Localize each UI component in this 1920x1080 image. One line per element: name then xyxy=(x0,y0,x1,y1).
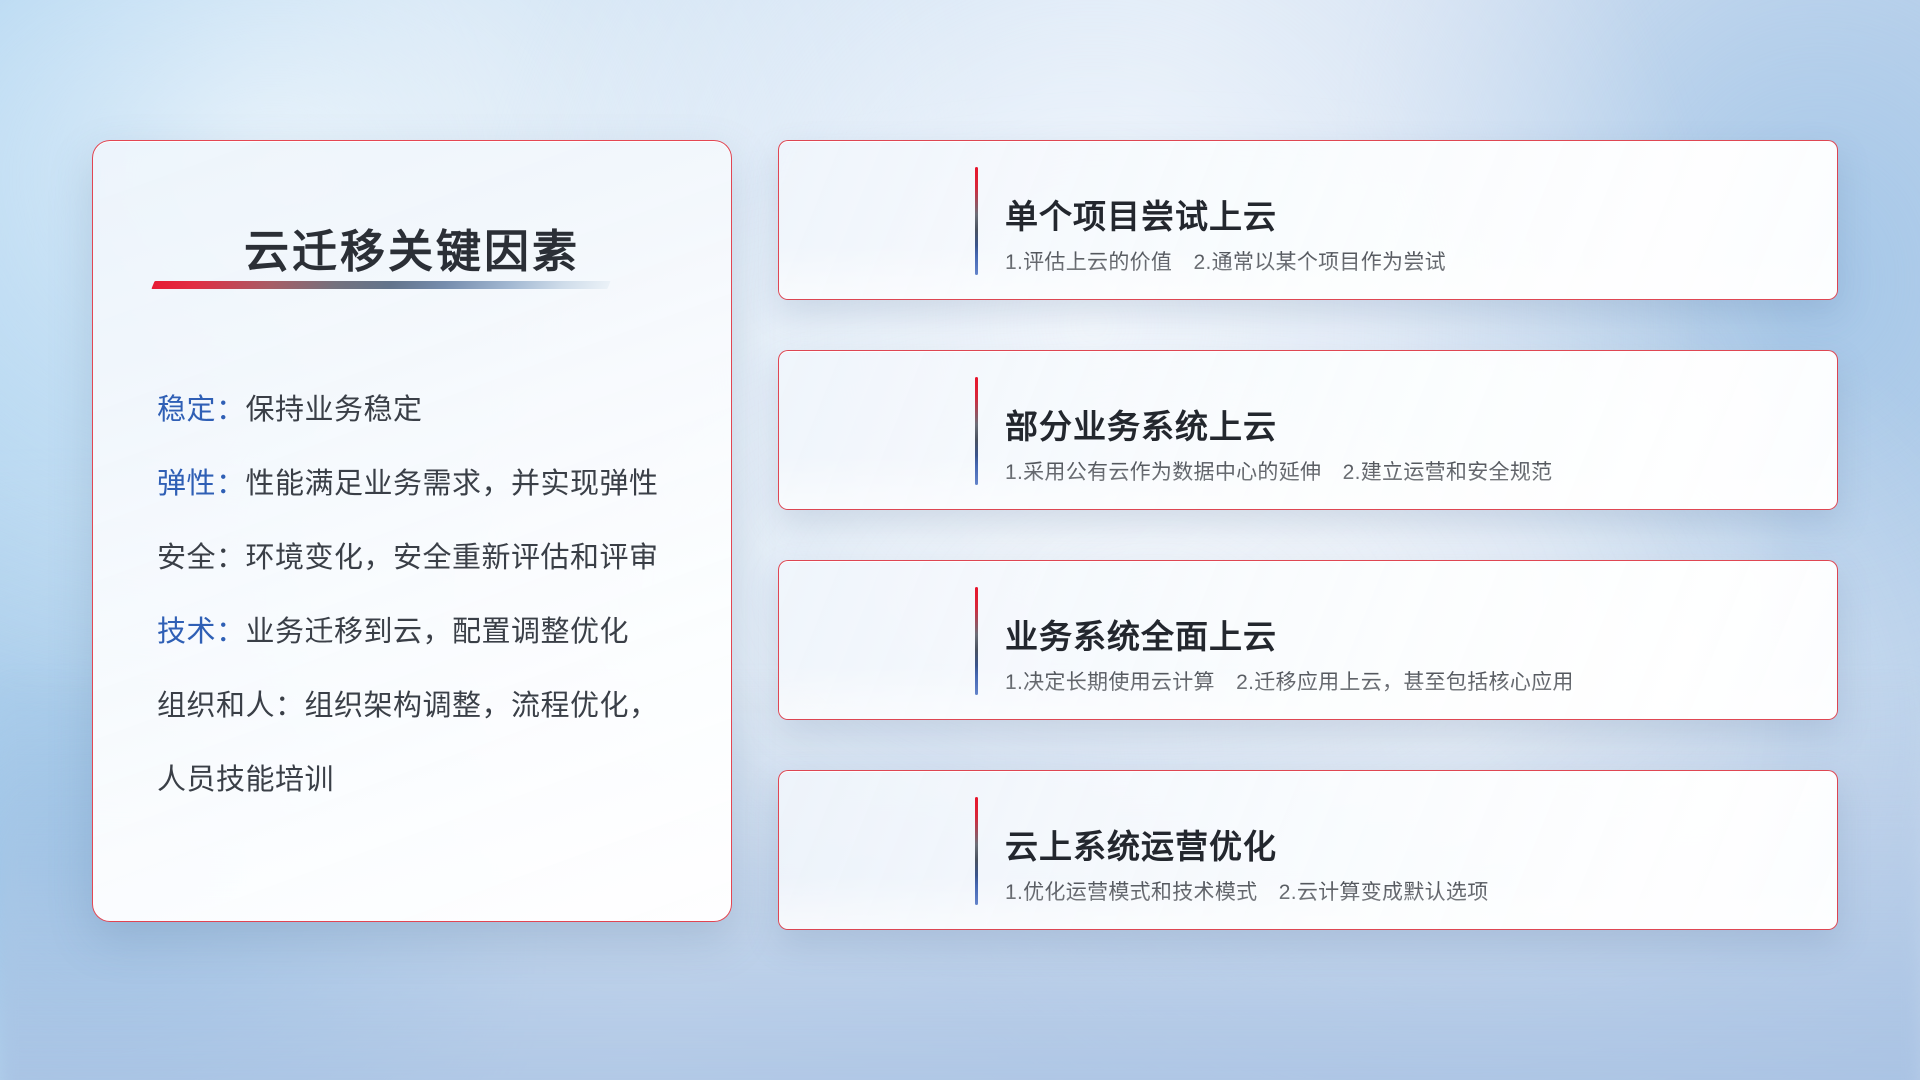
key-factor-label: 组织和人： xyxy=(157,690,305,722)
key-factor-row: 人员技能培训 xyxy=(157,743,687,817)
key-factors-list: 稳定：保持业务稳定弹性：性能满足业务需求，并实现弹性安全：环境变化，安全重新评估… xyxy=(157,373,687,817)
key-factor-row: 技术：业务迁移到云，配置调整优化 xyxy=(157,595,687,669)
title-underline-accent xyxy=(151,281,610,289)
key-factor-label: 技术： xyxy=(157,616,246,648)
stage-number-glyph xyxy=(815,785,967,915)
card-description: 1.决定长期使用云计算 2.迁移应用上云，甚至包括核心应用 xyxy=(1005,666,1809,696)
stage-number-01-icon xyxy=(815,155,967,285)
card-title: 云上系统运营优化 xyxy=(1005,820,1277,868)
stage-card-01[interactable]: 单个项目尝试上云 1.评估上云的价值 2.通常以某个项目作为尝试 xyxy=(778,140,1838,300)
key-factor-label: 稳定： xyxy=(157,394,246,426)
key-factor-row: 弹性：性能满足业务需求，并实现弹性 xyxy=(157,447,687,521)
key-factor-value: 组织架构调整，流程优化， xyxy=(305,690,659,722)
slide-stage: 云迁移关键因素 稳定：保持业务稳定弹性：性能满足业务需求，并实现弹性安全：环境变… xyxy=(0,0,1920,1080)
key-factors-panel: 云迁移关键因素 稳定：保持业务稳定弹性：性能满足业务需求，并实现弹性安全：环境变… xyxy=(92,140,732,922)
key-factor-value: 性能满足业务需求，并实现弹性 xyxy=(246,468,659,500)
card-description: 1.采用公有云作为数据中心的延伸 2.建立运营和安全规范 xyxy=(1005,456,1809,486)
stage-number-glyph xyxy=(815,155,967,285)
stage-number-03-icon xyxy=(815,575,967,705)
stage-card-02[interactable]: 部分业务系统上云 1.采用公有云作为数据中心的延伸 2.建立运营和安全规范 xyxy=(778,350,1838,510)
card-accent-bar xyxy=(975,587,978,695)
key-factor-value: 保持业务稳定 xyxy=(246,394,423,426)
stage-number-04-icon xyxy=(815,785,967,915)
key-factor-row: 安全：环境变化，安全重新评估和评审 xyxy=(157,521,687,595)
key-factor-value: 环境变化，安全重新评估和评审 xyxy=(246,542,659,574)
stage-number-glyph xyxy=(815,365,967,495)
key-factor-label: 安全： xyxy=(157,542,246,574)
card-title: 业务系统全面上云 xyxy=(1005,610,1277,658)
stage-card-04[interactable]: 云上系统运营优化 1.优化运营模式和技术模式 2.云计算变成默认选项 xyxy=(778,770,1838,930)
card-title: 单个项目尝试上云 xyxy=(1005,190,1277,238)
stage-card-03[interactable]: 业务系统全面上云 1.决定长期使用云计算 2.迁移应用上云，甚至包括核心应用 xyxy=(778,560,1838,720)
key-factor-row: 稳定：保持业务稳定 xyxy=(157,373,687,447)
key-factor-label: 弹性： xyxy=(157,468,246,500)
page-title: 云迁移关键因素 xyxy=(93,215,731,280)
card-accent-bar xyxy=(975,167,978,275)
key-factor-value: 业务迁移到云，配置调整优化 xyxy=(246,616,630,648)
card-description: 1.优化运营模式和技术模式 2.云计算变成默认选项 xyxy=(1005,876,1809,906)
card-title: 部分业务系统上云 xyxy=(1005,400,1277,448)
stage-number-glyph xyxy=(815,575,967,705)
stage-number-02-icon xyxy=(815,365,967,495)
key-factor-value: 人员技能培训 xyxy=(157,764,334,796)
card-description: 1.评估上云的价值 2.通常以某个项目作为尝试 xyxy=(1005,246,1809,276)
card-accent-bar xyxy=(975,797,978,905)
key-factor-row: 组织和人：组织架构调整，流程优化， xyxy=(157,669,687,743)
card-accent-bar xyxy=(975,377,978,485)
